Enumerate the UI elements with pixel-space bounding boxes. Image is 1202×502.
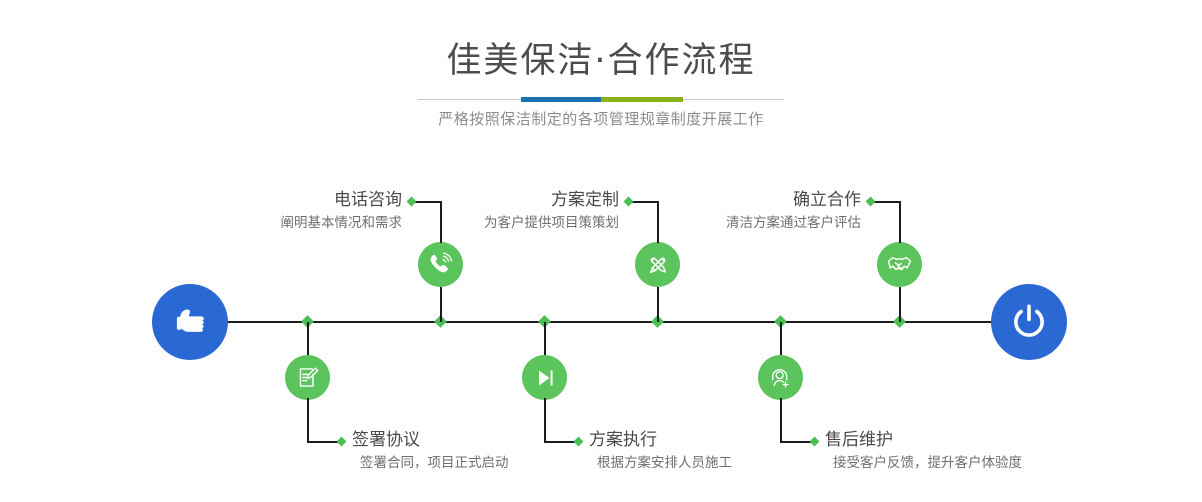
step-title-step-6: 售后维护 [825,430,1022,450]
connector-elbow-v-step-6 [780,398,782,442]
connector-elbow-v-step-5 [899,201,901,243]
node-icon-step-4[interactable] [522,355,567,400]
connector-stem-step-1 [440,287,442,322]
step-title-step-1: 电话咨询 [281,190,403,210]
node-icon-step-3[interactable] [635,242,680,287]
connector-elbow-h-step-3 [630,201,659,203]
connector-stem-step-2 [307,322,309,356]
connector-stem-step-4 [544,322,546,356]
node-icon-step-1[interactable] [418,242,463,287]
step-label-step-2: 签署协议 签署合同，项目正式启动 [352,430,509,473]
step-title-step-2: 签署协议 [352,430,509,450]
step-label-step-3: 方案定制 为客户提供项目策策划 [484,190,619,233]
step-desc-step-5: 清洁方案通过客户评估 [726,213,861,233]
power-icon [1008,301,1050,343]
step-desc-step-6: 接受客户反馈，提升客户体验度 [833,453,1022,473]
label-marker-step-5 [866,197,876,207]
connector-stem-step-5 [899,287,901,322]
connector-stem-step-6 [780,322,782,356]
label-marker-step-4 [574,437,584,447]
step-title-step-4: 方案执行 [589,430,732,450]
label-marker-step-3 [624,197,634,207]
play-execute-icon [533,366,557,390]
process-timeline: 电话咨询 阐明基本情况和需求 方案定制 [0,0,1202,502]
step-title-step-5: 确立合作 [726,190,861,210]
connector-stem-step-3 [657,287,659,322]
connector-elbow-h-step-2 [307,441,340,443]
connector-elbow-h-step-1 [413,201,442,203]
step-label-step-4: 方案执行 根据方案安排人员施工 [589,430,732,473]
label-marker-step-6 [810,437,820,447]
step-desc-step-4: 根据方案安排人员施工 [597,453,732,473]
node-icon-step-2[interactable] [285,355,330,400]
step-desc-step-3: 为客户提供项目策策划 [484,213,619,233]
node-icon-step-5[interactable] [877,242,922,287]
connector-elbow-h-step-6 [780,441,813,443]
node-icon-step-6[interactable] [758,355,803,400]
step-desc-step-2: 签署合同，项目正式启动 [360,453,509,473]
sign-document-icon [295,365,320,390]
timeline-end-node[interactable] [991,284,1067,360]
connector-elbow-v-step-1 [440,201,442,243]
step-label-step-6: 售后维护 接受客户反馈，提升客户体验度 [825,430,1022,473]
connector-elbow-v-step-4 [544,398,546,442]
plan-pencil-icon [645,252,671,278]
connector-elbow-v-step-3 [657,201,659,243]
connector-elbow-h-step-4 [544,441,577,443]
phone-call-icon [428,252,454,278]
step-label-step-1: 电话咨询 阐明基本情况和需求 [281,190,403,233]
step-title-step-3: 方案定制 [484,190,619,210]
step-desc-step-1: 阐明基本情况和需求 [281,213,403,233]
step-label-step-5: 确立合作 清洁方案通过客户评估 [726,190,861,233]
connector-elbow-h-step-5 [872,201,901,203]
label-marker-step-1 [407,197,417,207]
handshake-icon [886,251,913,278]
pointing-hand-icon [169,301,211,343]
connector-elbow-v-step-2 [307,398,309,442]
timeline-start-node[interactable] [152,284,228,360]
label-marker-step-2 [337,437,347,447]
customer-service-icon [768,365,793,390]
flow-diagram-page: 佳美保洁·合作流程 严格按照保洁制定的各项管理规章制度开展工作 [0,0,1202,502]
